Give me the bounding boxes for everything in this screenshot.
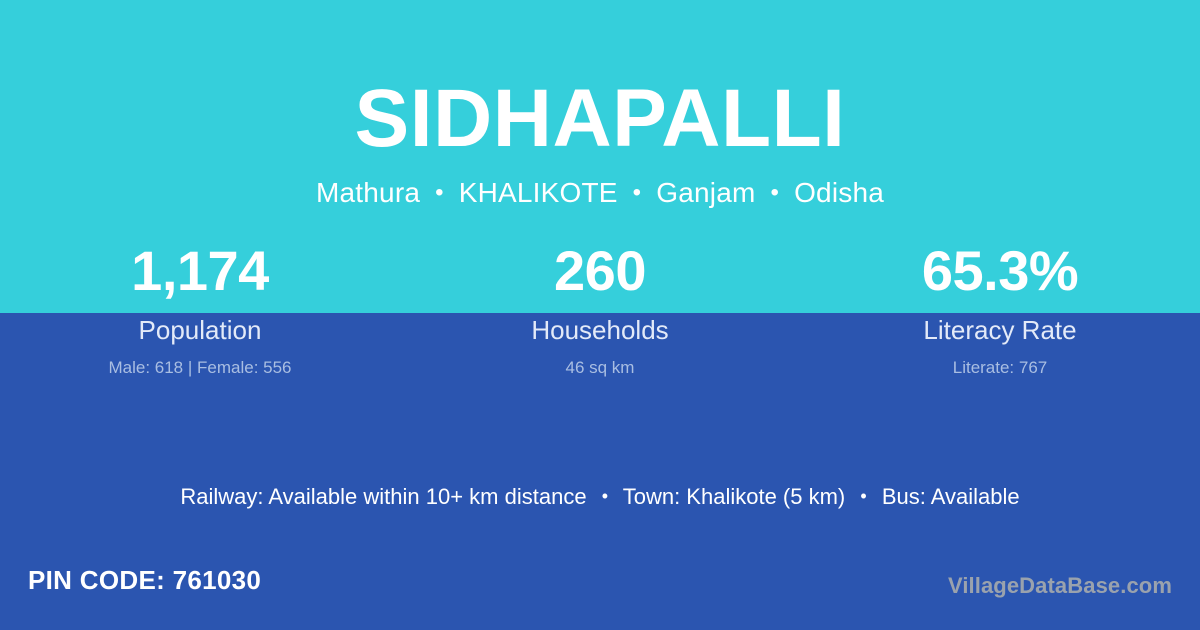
location-breadcrumb: Mathura • KHALIKOTE • Ganjam • Odisha xyxy=(0,160,1200,207)
card-footer: PIN CODE: 761030 VillageDataBase.com xyxy=(0,558,1200,630)
transport-info-row: Railway: Available within 10+ km distanc… xyxy=(0,486,1200,508)
stat-sublabel: 46 sq km xyxy=(400,343,800,376)
bullet-separator-icon: • xyxy=(851,486,875,506)
card-header: SIDHAPALLI Mathura • KHALIKOTE • Ganjam … xyxy=(0,0,1200,207)
stat-value: 65.3% xyxy=(800,243,1200,299)
village-info-card: SIDHAPALLI Mathura • KHALIKOTE • Ganjam … xyxy=(0,0,1200,630)
stat-literacy-rate: 65.3% Literacy Rate Literate: 767 xyxy=(800,243,1200,376)
stats-row: 1,174 Population Male: 618 | Female: 556… xyxy=(0,243,1200,376)
stat-value: 1,174 xyxy=(0,243,400,299)
stat-sublabel: Male: 618 | Female: 556 xyxy=(0,343,400,376)
stat-value: 260 xyxy=(400,243,800,299)
location-part-district: Ganjam xyxy=(656,177,755,208)
pin-code: PIN CODE: 761030 xyxy=(28,567,261,593)
location-part-block: KHALIKOTE xyxy=(459,177,618,208)
transport-bus: Bus: Available xyxy=(882,484,1020,509)
transport-railway: Railway: Available within 10+ km distanc… xyxy=(180,484,586,509)
bullet-separator-icon: • xyxy=(593,486,617,506)
stat-label: Households xyxy=(400,299,800,343)
stat-households: 260 Households 46 sq km xyxy=(400,243,800,376)
site-watermark: VillageDataBase.com xyxy=(948,575,1172,597)
stat-sublabel: Literate: 767 xyxy=(800,343,1200,376)
stat-label: Literacy Rate xyxy=(800,299,1200,343)
bullet-separator-icon: • xyxy=(428,179,451,206)
stat-label: Population xyxy=(0,299,400,343)
transport-town: Town: Khalikote (5 km) xyxy=(623,484,846,509)
village-title: SIDHAPALLI xyxy=(0,0,1200,160)
location-part-village: Mathura xyxy=(316,177,420,208)
stat-population: 1,174 Population Male: 618 | Female: 556 xyxy=(0,243,400,376)
bullet-separator-icon: • xyxy=(626,179,649,206)
bullet-separator-icon: • xyxy=(763,179,786,206)
location-part-state: Odisha xyxy=(794,177,884,208)
